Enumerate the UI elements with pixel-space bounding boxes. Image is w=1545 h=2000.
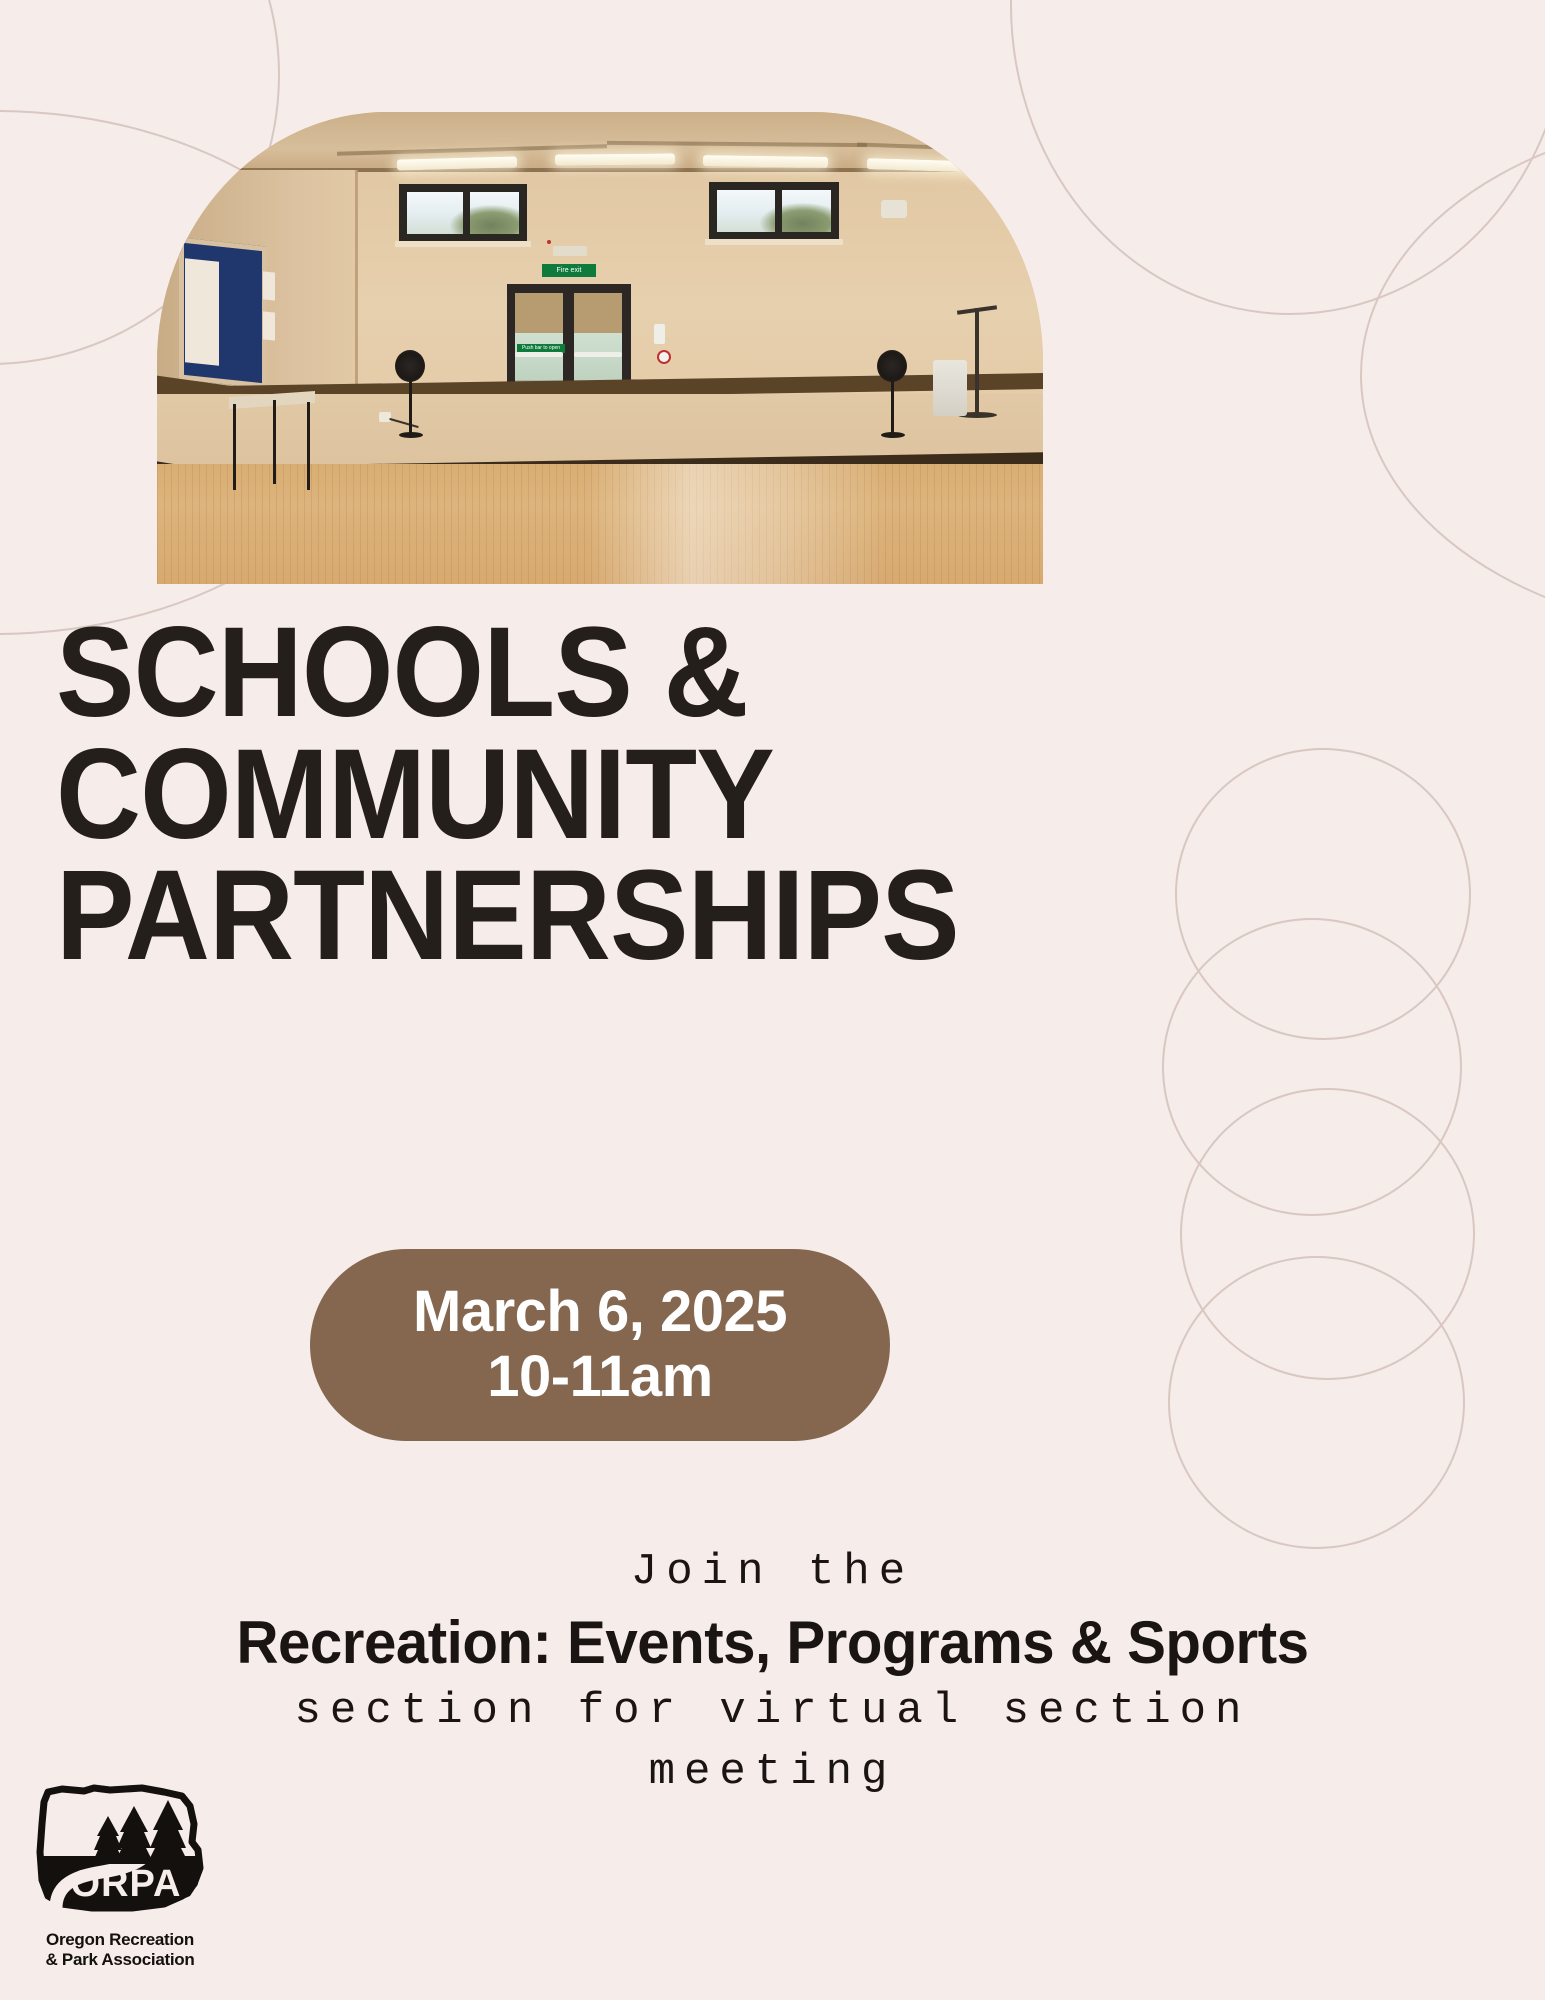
event-date-badge: March 6, 2025 10-11am — [310, 1249, 890, 1441]
photo-window-sill — [705, 239, 843, 245]
photo-fluorescent-light — [703, 155, 828, 168]
orpa-logo-mark-icon: ORPA — [22, 1772, 218, 1930]
photo-fan-base — [399, 432, 423, 438]
photo-fan-base — [881, 432, 905, 438]
photo-window-mullion — [463, 192, 470, 234]
photo-notice-paper — [185, 258, 219, 366]
cta-block: Join the Recreation: Events, Programs & … — [0, 1545, 1545, 1801]
cta-line-join: Join the — [0, 1545, 1545, 1600]
orpa-name-line-1: Oregon Recreation — [22, 1930, 218, 1950]
photo-fan-head — [395, 350, 425, 382]
flyer-poster: Fire exit Push bar to open — [0, 0, 1545, 2000]
photo-table-leg — [233, 404, 236, 490]
decorative-circle-icon — [1162, 918, 1462, 1216]
photo-window-mullion — [775, 190, 782, 232]
photo-no-entry-sign-icon — [657, 350, 671, 364]
photo-floor-reflection — [587, 464, 887, 584]
page-title-line-1: SCHOOLS & — [56, 612, 930, 734]
cta-section-name: Recreation: Events, Programs & Sports — [23, 1608, 1522, 1677]
svg-text:ORPA: ORPA — [71, 1863, 182, 1905]
page-title-line-3: PARTNERSHIPS — [56, 855, 930, 977]
photo-table-leg — [273, 400, 276, 484]
photo-window — [709, 182, 839, 240]
cta-line-meeting: meeting — [0, 1744, 1545, 1801]
decorative-circle-icon — [1175, 748, 1471, 1040]
photo-fan-pole — [891, 380, 894, 434]
photo-window-foliage — [760, 203, 831, 232]
event-time: 10-11am — [487, 1345, 712, 1410]
photo-emergency-light — [553, 246, 587, 256]
photo-window-foliage — [450, 205, 519, 234]
photo-fluorescent-light — [555, 153, 675, 165]
page-title-line-2: COMMUNITY — [56, 734, 930, 856]
photo-window-sill — [395, 241, 531, 247]
photo-coat-stand-pole — [975, 308, 979, 416]
orpa-logo: ORPA Oregon Recreation & Park Associatio… — [22, 1772, 218, 1990]
page-title: SCHOOLS & COMMUNITY PARTNERSHIPS — [56, 612, 930, 977]
photo-table-leg — [307, 402, 310, 490]
photo-small-wall-marker — [547, 240, 551, 244]
photo-notice-paper — [263, 311, 275, 340]
photo-notice-paper — [263, 271, 275, 300]
event-date: March 6, 2025 — [413, 1280, 787, 1345]
photo-fan-head — [877, 350, 907, 382]
decorative-circle-icon — [1180, 1088, 1475, 1380]
photo-window — [399, 184, 527, 242]
orpa-name-line-2: & Park Association — [22, 1950, 218, 1970]
photo-wall-vent — [881, 200, 907, 218]
photo-push-bar — [574, 352, 622, 357]
hero-photo-illustration: Fire exit Push bar to open — [157, 112, 1043, 584]
photo-fire-exit-sign: Fire exit — [542, 264, 596, 277]
photo-fan-pole — [409, 380, 412, 434]
cta-line-section-for: section for virtual section — [0, 1683, 1545, 1740]
orpa-logo-text: Oregon Recreation & Park Association — [22, 1930, 218, 1970]
photo-push-bar — [515, 352, 563, 357]
decorative-circle-icon — [1360, 115, 1545, 635]
decorative-circle-icon — [1168, 1256, 1465, 1549]
decorative-circle-icon — [1010, 0, 1545, 315]
photo-wall-sign — [654, 324, 665, 344]
hero-photo: Fire exit Push bar to open — [157, 112, 1043, 584]
photo-portable-heater — [933, 360, 967, 416]
